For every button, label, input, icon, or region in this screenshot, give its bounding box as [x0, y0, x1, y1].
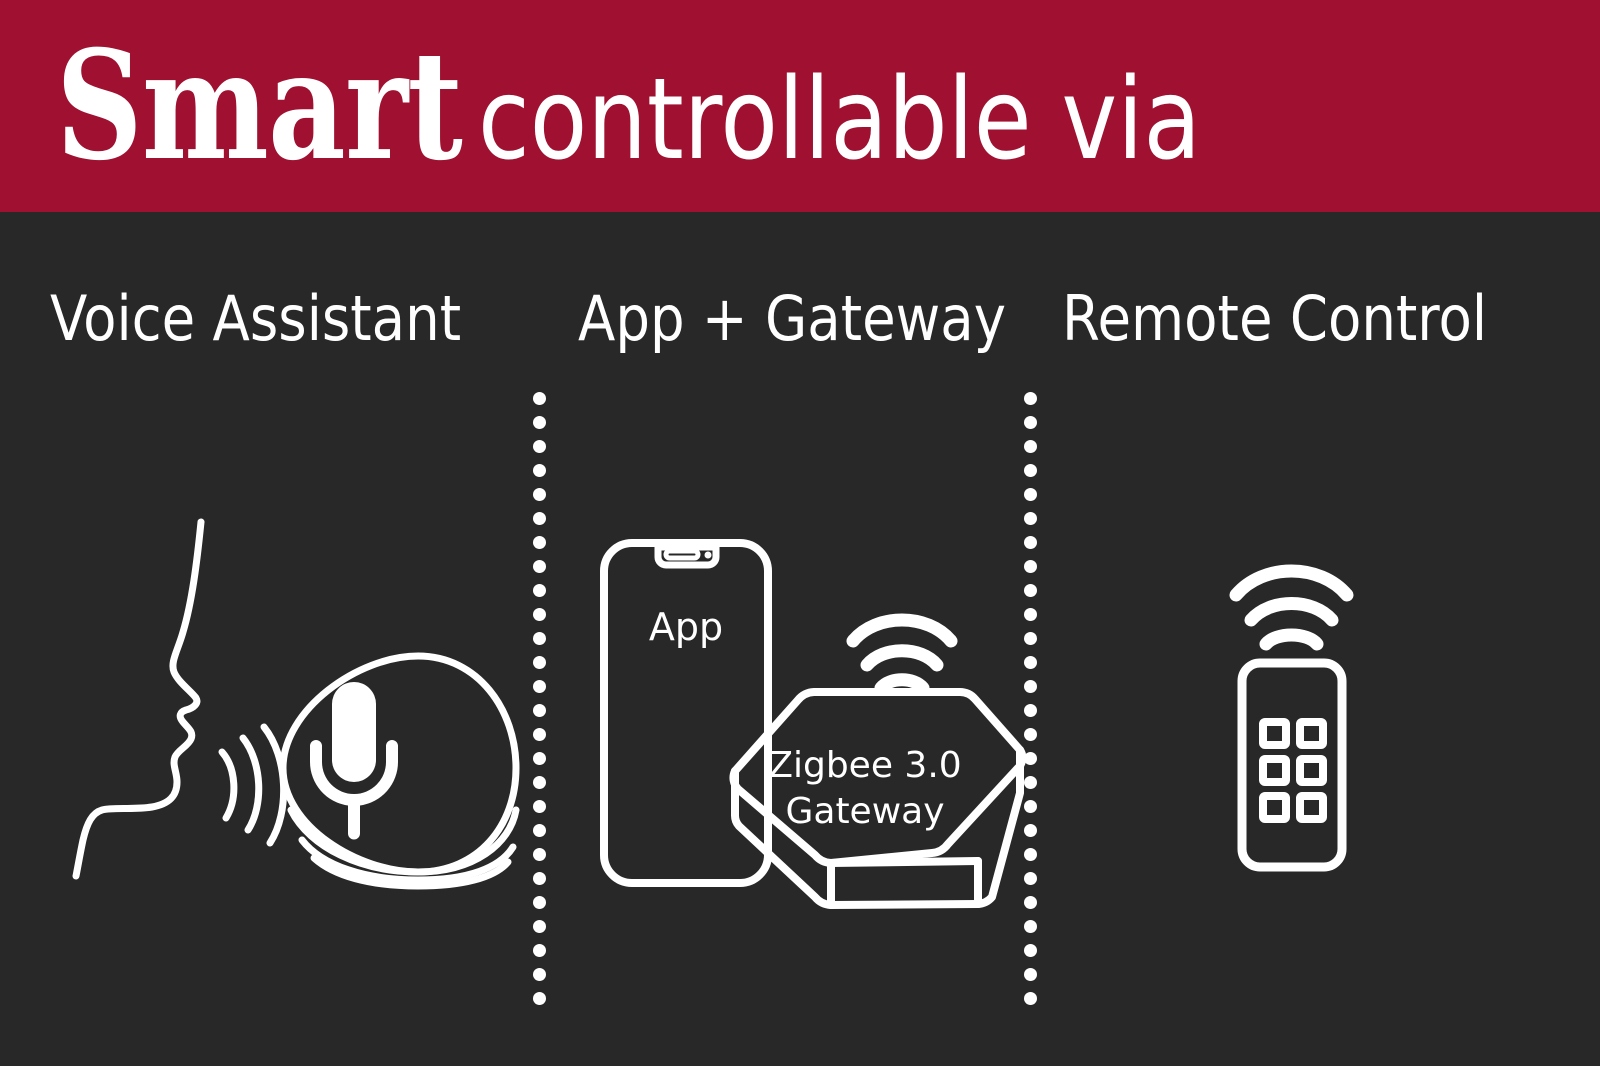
divider-dot — [533, 752, 546, 765]
divider-dot — [1024, 512, 1037, 525]
divider-dot — [1024, 992, 1037, 1005]
page-title: Smart controllable via — [56, 31, 1338, 181]
divider-dot — [1024, 488, 1037, 501]
app-gateway-icon: App Zigbee 3.0 Gateway — [580, 525, 1030, 905]
divider-dot — [533, 536, 546, 549]
column-heading-app-gateway: App + Gateway — [578, 288, 1006, 350]
divider-dot — [1024, 416, 1037, 429]
divider-dot — [533, 584, 546, 597]
divider-dot — [1024, 440, 1037, 453]
divider-dot — [533, 992, 546, 1005]
divider-dot — [533, 872, 546, 885]
divider-dot — [533, 704, 546, 717]
divider-dot — [1024, 920, 1037, 933]
divider-dot — [533, 824, 546, 837]
divider-dot — [533, 656, 546, 669]
divider-dot — [533, 512, 546, 525]
wifi-icon — [853, 620, 951, 688]
divider-dot — [533, 632, 546, 645]
divider-dot — [1024, 464, 1037, 477]
dotted-divider-1 — [533, 392, 546, 1020]
face-profile-icon — [76, 522, 201, 876]
divider-dot — [533, 488, 546, 501]
gateway-label-line2: Gateway — [785, 791, 944, 832]
divider-dot — [533, 848, 546, 861]
divider-dot — [533, 392, 546, 405]
divider-dot — [533, 680, 546, 693]
column-heading-voice-assistant: Voice Assistant — [50, 288, 461, 350]
divider-dot — [533, 440, 546, 453]
header-banner: Smart controllable via — [0, 0, 1600, 212]
divider-dot — [533, 896, 546, 909]
sound-wave-icon — [222, 727, 284, 843]
divider-dot — [533, 416, 546, 429]
divider-dot — [533, 944, 546, 957]
remote-control-icon — [1190, 545, 1400, 875]
divider-dot — [533, 560, 546, 573]
divider-dot — [533, 800, 546, 813]
divider-dot — [1024, 968, 1037, 981]
wifi-icon — [1236, 571, 1347, 644]
title-rest-text: controllable via — [478, 64, 1201, 176]
voice-assistant-icon — [70, 510, 530, 910]
divider-dot — [1024, 392, 1037, 405]
title-strong-word: Smart — [56, 31, 462, 181]
divider-dot — [533, 776, 546, 789]
divider-dot — [533, 464, 546, 477]
divider-dot — [1024, 944, 1037, 957]
remote-button-grid-icon — [1263, 722, 1323, 819]
divider-dot — [533, 920, 546, 933]
column-heading-remote-control: Remote Control — [1062, 288, 1487, 350]
divider-dot — [533, 968, 546, 981]
infographic-page: Smart controllable via Voice Assistant A… — [0, 0, 1600, 1066]
divider-dot — [533, 728, 546, 741]
phone-screen-label: App — [649, 605, 723, 649]
divider-dot — [533, 608, 546, 621]
microphone-icon — [310, 682, 398, 840]
gateway-label-line1: Zigbee 3.0 — [768, 745, 961, 786]
